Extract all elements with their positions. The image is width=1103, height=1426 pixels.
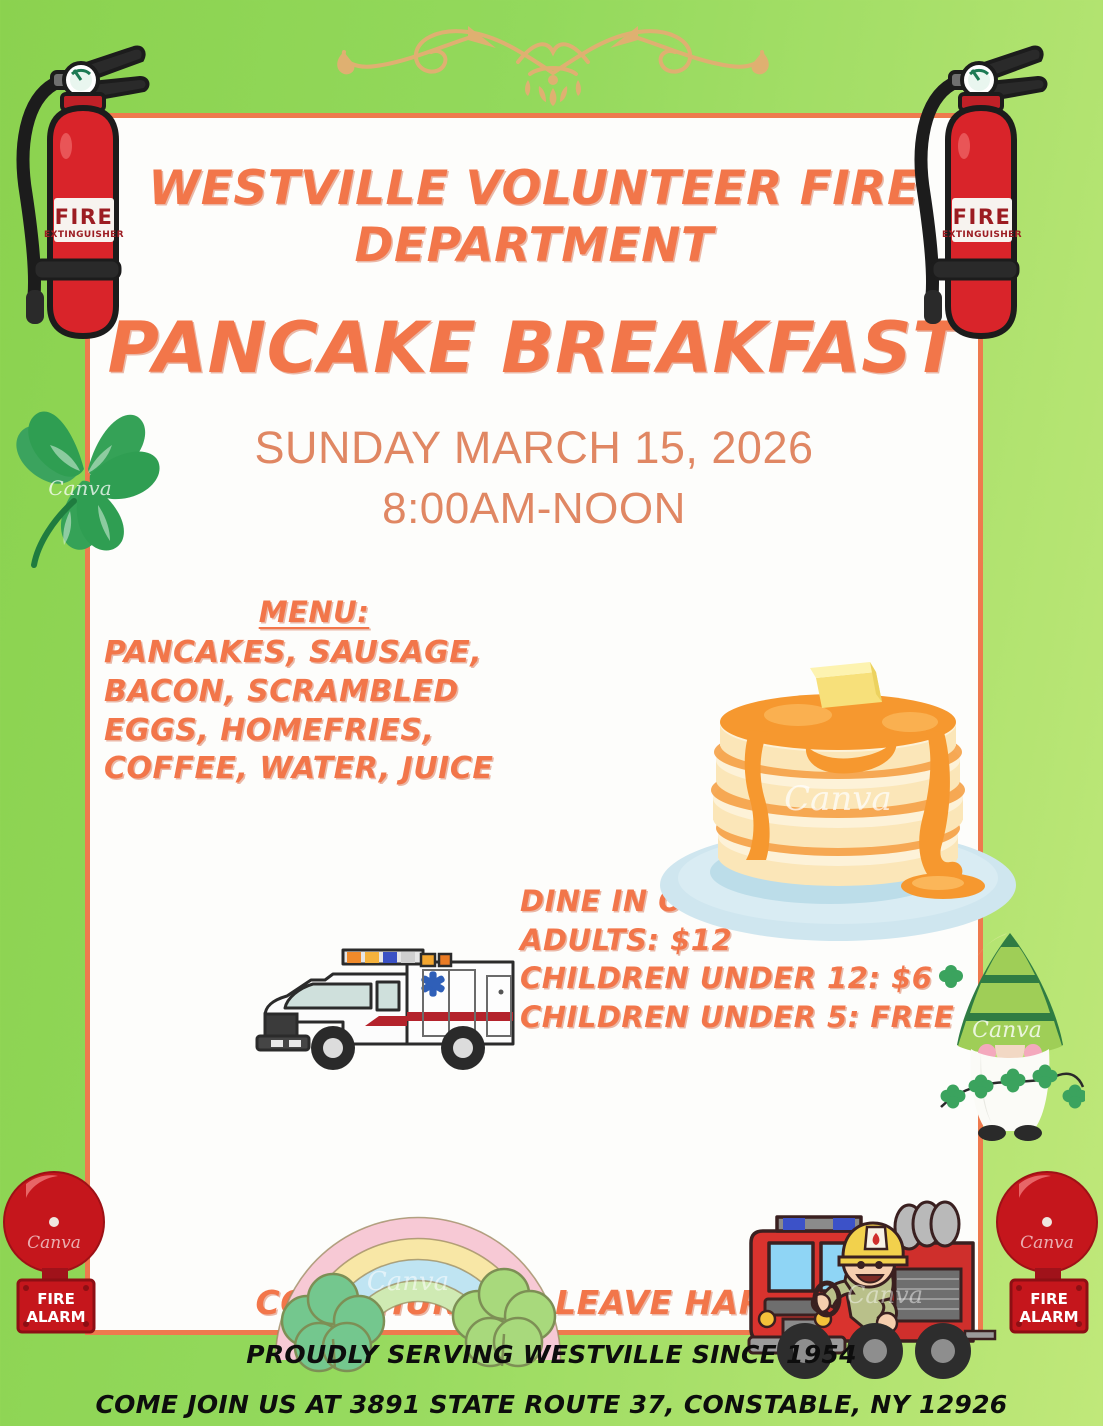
organization-name: WESTVILLE VOLUNTEER FIRE DEPARTMENT <box>90 160 978 275</box>
svg-text:Canva: Canva <box>1020 1233 1074 1253</box>
svg-text:Canva: Canva <box>847 1281 923 1309</box>
menu-item-line: PANCAKES, SAUSAGE, <box>104 634 524 673</box>
menu-item-line: COFFEE, WATER, JUICE <box>104 750 524 789</box>
menu-heading: MENU: <box>104 594 524 631</box>
flyer-canvas: WESTVILLE VOLUNTEER FIRE DEPARTMENT PANC… <box>0 0 1103 1426</box>
svg-text:Canva: Canva <box>367 1267 449 1297</box>
svg-text:FIRE: FIRE <box>953 205 1012 229</box>
event-datetime: SUNDAY MARCH 15, 2026 8:00AM-NOON <box>90 418 978 538</box>
menu-item-line: EGGS, HOMEFRIES, <box>104 712 524 751</box>
menu-item-line: BACON, SCRAMBLED <box>104 673 524 712</box>
svg-text:EXTINGUISHER: EXTINGUISHER <box>44 230 124 240</box>
org-line-1: WESTVILLE VOLUNTEER <box>148 161 782 216</box>
event-date: SUNDAY MARCH 15, 2026 <box>90 418 978 479</box>
svg-text:Canva: Canva <box>784 779 892 819</box>
pricing-line: CHILDREN UNDER 12: $6 <box>520 959 960 998</box>
menu-block: MENU: PANCAKES, SAUSAGE, BACON, SCRAMBLE… <box>104 594 524 789</box>
fire-extinguisher-right-icon: FIRE EXTINGUISHER <box>906 22 1086 362</box>
svg-text:EXTINGUISHER: EXTINGUISHER <box>942 230 1022 240</box>
svg-text:FIRE: FIRE <box>37 1290 75 1308</box>
event-title: PANCAKE BREAKFAST <box>90 313 978 383</box>
fire-extinguisher-left-icon: FIRE EXTINGUISHER <box>8 22 188 362</box>
flyer-main-panel: WESTVILLE VOLUNTEER FIRE DEPARTMENT PANC… <box>85 113 983 1335</box>
pancake-stack-icon: Canva <box>638 660 1038 950</box>
fire-alarm-left-icon: FIRE ALARM Canva <box>2 1162 112 1347</box>
svg-text:Canva: Canva <box>27 1233 81 1253</box>
ornamental-flourish-icon <box>318 18 788 110</box>
fire-alarm-right-icon: FIRE ALARM Canva <box>995 1162 1103 1347</box>
svg-text:Canva: Canva <box>48 476 111 500</box>
svg-text:ALARM: ALARM <box>1019 1308 1078 1326</box>
svg-text:FIRE: FIRE <box>55 205 114 229</box>
since-text: PROUDLY SERVING WESTVILLE SINCE 1954 <box>0 1340 1103 1369</box>
svg-text:Canva: Canva <box>972 1018 1042 1043</box>
ambulance-icon <box>247 936 547 1076</box>
svg-text:FIRE: FIRE <box>1030 1290 1068 1308</box>
event-time: 8:00AM-NOON <box>90 479 978 538</box>
four-leaf-clover-icon: Canva <box>2 383 167 573</box>
gnome-icon: Canva <box>935 925 1085 1150</box>
address-text: COME JOIN US AT 3891 STATE ROUTE 37, CON… <box>0 1390 1103 1419</box>
pricing-line: CHILDREN UNDER 5: FREE <box>520 998 960 1037</box>
svg-text:ALARM: ALARM <box>26 1308 85 1326</box>
